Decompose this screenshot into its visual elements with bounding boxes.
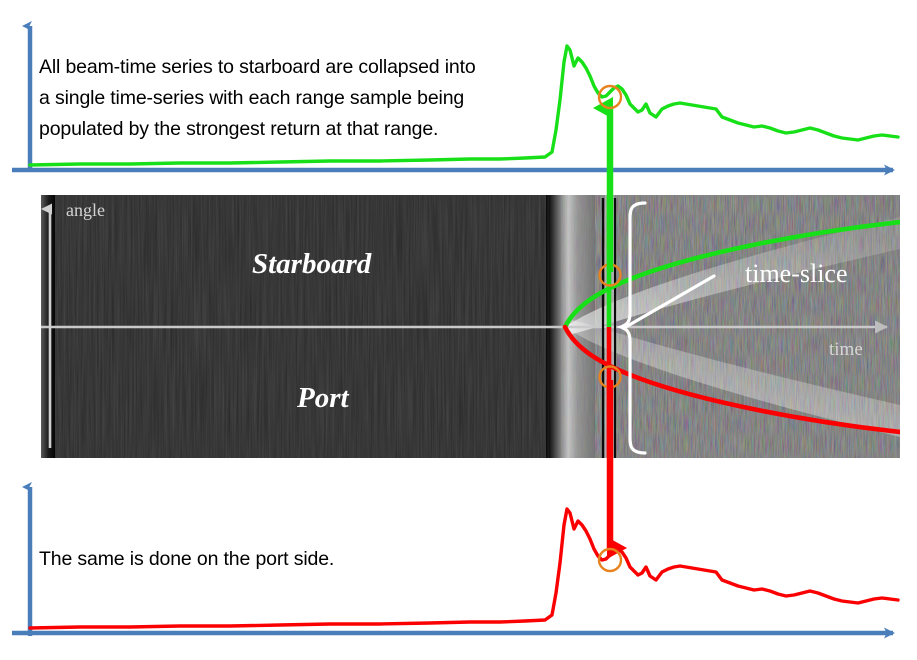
top-caption: All beam-time series to starboard are co… [39,52,559,145]
sonar-image [41,195,900,458]
figure-root: All beam-time series to starboard are co… [0,0,917,660]
port-region-label: Port [297,382,349,415]
sonar-waterfall-panel [41,195,900,458]
starboard-region-label: Starboard [252,248,371,281]
sonar-time-axis-label: time [829,339,863,361]
sonar-angle-axis-label: angle [66,200,105,221]
time-slice-annotation-label: time-slice [745,259,848,289]
bottom-caption: The same is done on the port side. [39,544,519,575]
